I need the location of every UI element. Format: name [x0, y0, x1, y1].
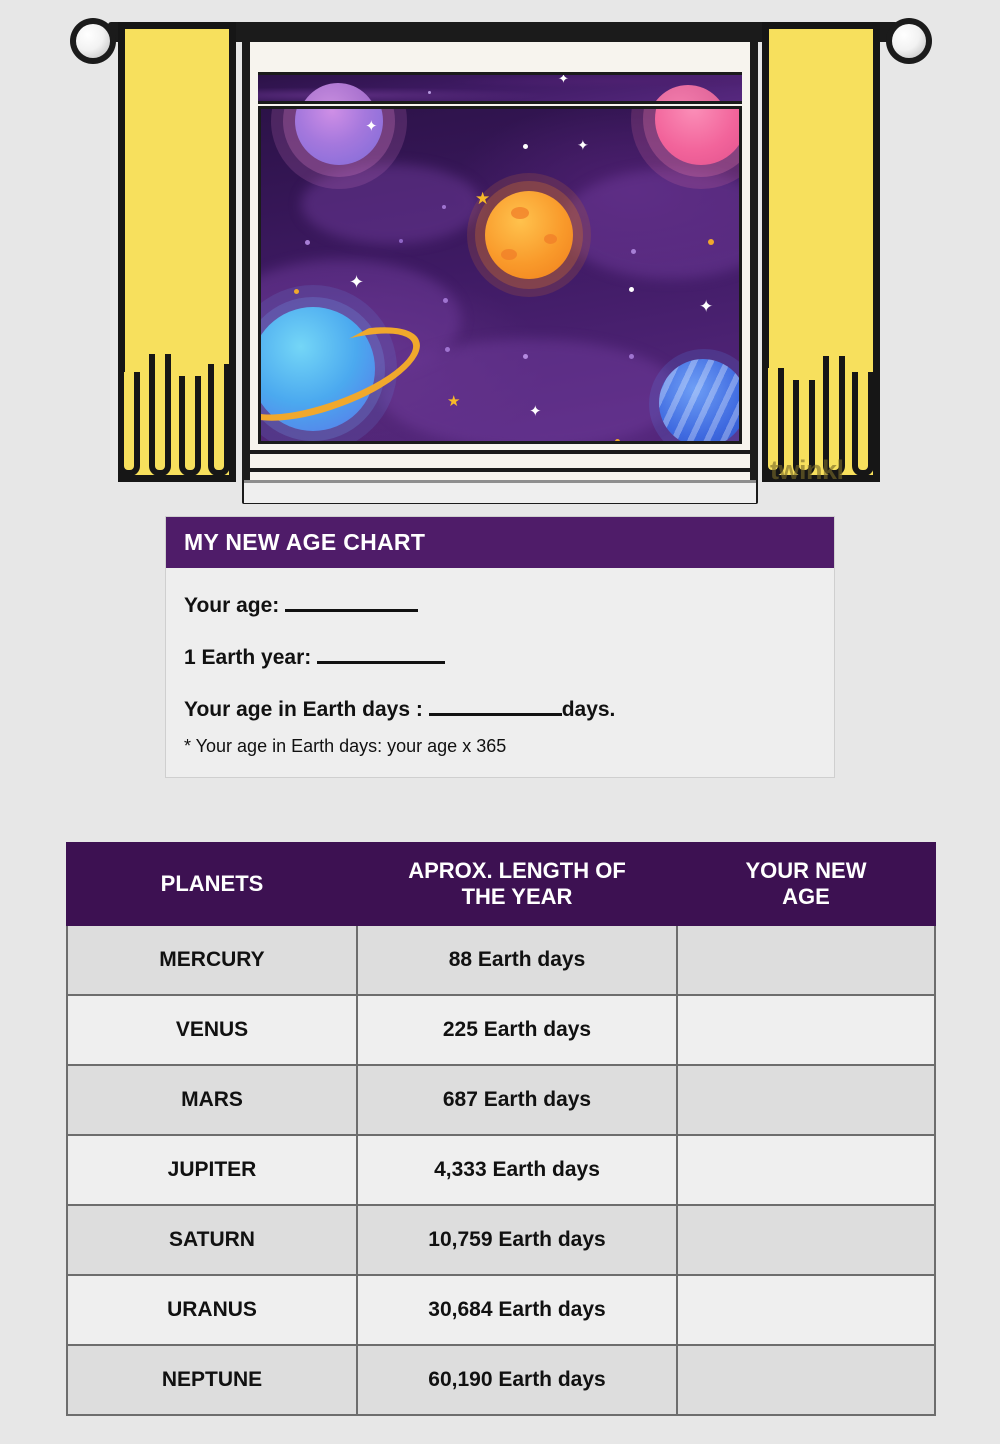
- curtain-rod-finial-left: [70, 18, 116, 64]
- star-dot: [629, 287, 634, 292]
- cell-your-new-age[interactable]: [677, 1345, 935, 1415]
- age-in-earth-days-input[interactable]: [429, 713, 562, 716]
- star-dot: [294, 289, 299, 294]
- star-icon: ✦: [577, 139, 589, 153]
- cell-year-length: 30,684 Earth days: [357, 1275, 677, 1345]
- table-header-your-new-age-line1: YOUR NEW: [746, 858, 867, 883]
- twinkl-watermark: twinkl: [770, 455, 844, 486]
- star-dot: [708, 239, 714, 245]
- yellow-star-icon: ★: [475, 191, 490, 208]
- cell-year-length: 10,759 Earth days: [357, 1205, 677, 1275]
- curtain-fold: [149, 354, 171, 476]
- cell-planet: VENUS: [67, 995, 357, 1065]
- striped-blue-planet: [659, 359, 742, 444]
- curtain-fold: [208, 364, 230, 476]
- table-header-your-new-age: YOUR NEW AGE: [677, 843, 935, 925]
- orange-planet-crater: [544, 234, 557, 244]
- earth-year-label: 1 Earth year:: [184, 646, 311, 669]
- age-chart-body: Your age: 1 Earth year: Your age in Eart…: [166, 568, 834, 777]
- star-dot: [442, 205, 446, 209]
- planet-year-table: PLANETS APROX. LENGTH OF THE YEAR YOUR N…: [66, 842, 936, 1416]
- cell-year-length: 225 Earth days: [357, 995, 677, 1065]
- window-sill: [250, 450, 750, 472]
- star-icon: ✦: [529, 404, 542, 419]
- age-in-earth-days-field-row: Your age in Earth days : days.: [184, 698, 816, 722]
- cell-your-new-age[interactable]: [677, 1275, 935, 1345]
- table-header-your-new-age-line2: AGE: [782, 884, 830, 909]
- table-row: URANUS 30,684 Earth days: [67, 1275, 935, 1345]
- cell-planet: MARS: [67, 1065, 357, 1135]
- space-window-illustration: ✦: [0, 0, 1000, 520]
- star-dot: [443, 298, 448, 303]
- yellow-star-icon: ★: [447, 394, 460, 409]
- cell-your-new-age[interactable]: [677, 1065, 935, 1135]
- star-dot: [399, 239, 403, 243]
- earth-year-field-row: 1 Earth year:: [184, 646, 816, 670]
- cell-planet: MERCURY: [67, 925, 357, 995]
- star-dot: [523, 144, 528, 149]
- table-header-year-length: APROX. LENGTH OF THE YEAR: [357, 843, 677, 925]
- age-chart-note: * Your age in Earth days: your age x 365: [184, 736, 816, 759]
- age-in-earth-days-label: Your age in Earth days :: [184, 698, 423, 721]
- table-row: MARS 687 Earth days: [67, 1065, 935, 1135]
- cell-year-length: 88 Earth days: [357, 925, 677, 995]
- star-icon: ✦: [699, 299, 713, 316]
- curtain-left: [118, 22, 236, 482]
- table-row: JUPITER 4,333 Earth days: [67, 1135, 935, 1205]
- cell-planet: JUPITER: [67, 1135, 357, 1205]
- orange-planet: [485, 191, 573, 279]
- star-icon: ✦: [349, 274, 364, 292]
- cell-your-new-age[interactable]: [677, 995, 935, 1065]
- curtain-right: [762, 22, 880, 482]
- star-dot: [305, 240, 310, 245]
- orange-planet-crater: [511, 207, 529, 219]
- cell-planet: NEPTUNE: [67, 1345, 357, 1415]
- curtain-fold: [179, 376, 201, 476]
- star-dot: [523, 354, 528, 359]
- star-dot: [445, 347, 450, 352]
- curtain-fold: [852, 372, 874, 476]
- table-row: SATURN 10,759 Earth days: [67, 1205, 935, 1275]
- earth-year-input[interactable]: [317, 661, 445, 664]
- table-header-year-length-line2: THE YEAR: [462, 884, 573, 909]
- table-header-year-length-line1: APROX. LENGTH OF: [408, 858, 626, 883]
- table-header-planets: PLANETS: [67, 843, 357, 925]
- table-row: NEPTUNE 60,190 Earth days: [67, 1345, 935, 1415]
- star-icon: ✦: [365, 119, 378, 134]
- nebula-cloud: [381, 339, 681, 444]
- cell-year-length: 4,333 Earth days: [357, 1135, 677, 1205]
- table-header-planets-line1: PLANETS: [161, 871, 264, 896]
- star-dot: [631, 249, 636, 254]
- cell-year-length: 60,190 Earth days: [357, 1345, 677, 1415]
- your-age-label: Your age:: [184, 594, 279, 617]
- window-pane-top: ✦: [258, 72, 742, 104]
- cell-your-new-age[interactable]: [677, 1135, 935, 1205]
- star-dot: [428, 91, 431, 94]
- cell-your-new-age[interactable]: [677, 925, 935, 995]
- your-age-field-row: Your age:: [184, 594, 816, 618]
- curtain-fold: [118, 372, 140, 476]
- age-chart-title: MY NEW AGE CHART: [166, 517, 834, 568]
- cell-planet: URANUS: [67, 1275, 357, 1345]
- window-pane-main: ✦ ✦ ✦ ✦ ✦ ★ ★: [258, 106, 742, 444]
- star-dot: [629, 354, 634, 359]
- window-sill-lower: [244, 480, 756, 503]
- orange-planet-crater: [501, 249, 517, 260]
- star-icon: ✦: [558, 73, 569, 86]
- star-dot: [615, 439, 620, 444]
- curtain-rod-finial-right: [886, 18, 932, 64]
- days-suffix-label: days.: [562, 698, 616, 721]
- table-row: MERCURY 88 Earth days: [67, 925, 935, 995]
- table-row: VENUS 225 Earth days: [67, 995, 935, 1065]
- cell-year-length: 687 Earth days: [357, 1065, 677, 1135]
- cell-your-new-age[interactable]: [677, 1205, 935, 1275]
- table-header-row: PLANETS APROX. LENGTH OF THE YEAR YOUR N…: [67, 843, 935, 925]
- my-new-age-chart-panel: MY NEW AGE CHART Your age: 1 Earth year:…: [165, 516, 835, 778]
- your-age-input[interactable]: [285, 609, 418, 612]
- cell-planet: SATURN: [67, 1205, 357, 1275]
- planet-stripes: [659, 359, 742, 444]
